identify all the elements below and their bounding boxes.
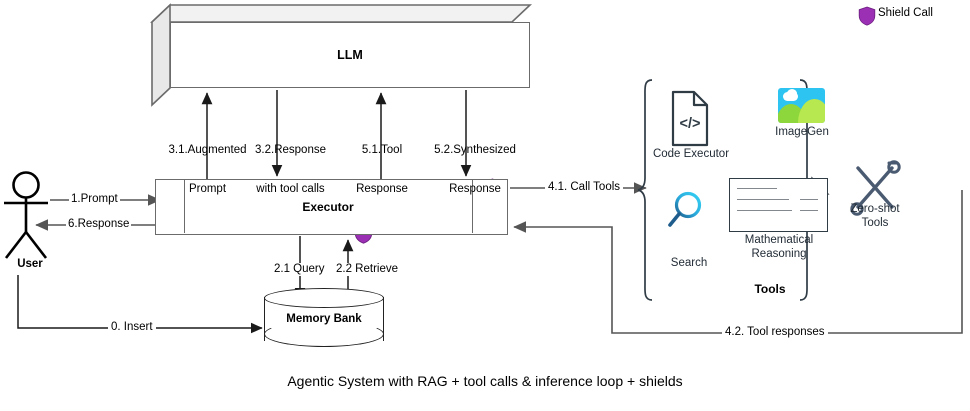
edge-label-response: 6.Response: [66, 218, 131, 231]
edge-label-synthesized-response: 5.2.Synthesized Response: [420, 118, 530, 209]
edge-label-call-tools: 4.1. Call Tools: [545, 181, 623, 194]
edge-label-insert: 0. Insert: [108, 321, 156, 334]
shield-legend-icon: [859, 7, 875, 25]
edge-label-prompt: 1.Prompt: [69, 193, 120, 206]
tool-label-math-reasoning: Mathematical Reasoning: [723, 234, 835, 261]
code-document-icon: </>: [673, 92, 707, 145]
user-stick-figure: [4, 173, 48, 259]
edge-label-query: 2.1 Query: [272, 263, 327, 276]
llm-node[interactable]: LLM: [152, 5, 530, 89]
diagram-caption: Agentic System with RAG + tool calls & i…: [0, 373, 970, 389]
tool-label-search: Search: [655, 257, 723, 271]
memory-bank-node[interactable]: Memory Bank: [264, 288, 384, 350]
tools-brace-left: [638, 80, 652, 300]
svg-text:</>: </>: [680, 116, 701, 132]
edge-label-response-tool-calls: 3.2.Response with tool calls: [233, 118, 348, 209]
image-icon: [778, 88, 825, 123]
memory-bank-label: Memory Bank: [264, 302, 384, 336]
shield-legend-label: Shield Call: [878, 7, 933, 19]
user-label: User: [2, 258, 58, 270]
tool-label-zero-shot-tools: Zero-shot Tools: [838, 203, 912, 230]
edge-label-retrieve: 2.2 Retrieve: [334, 263, 400, 276]
formula-document-icon: [729, 178, 828, 232]
tool-label-imagegen: ImageGen: [762, 126, 842, 140]
edge-label-tool-response: 5.1.Tool Response: [337, 118, 427, 209]
magnifier-icon: [670, 194, 700, 226]
tools-group-label: Tools: [715, 282, 825, 296]
tool-label-code-executor: Code Executor: [645, 148, 737, 162]
edge-label-tool-responses: 4.2. Tool responses: [722, 326, 828, 339]
llm-label: LLM: [170, 22, 530, 88]
